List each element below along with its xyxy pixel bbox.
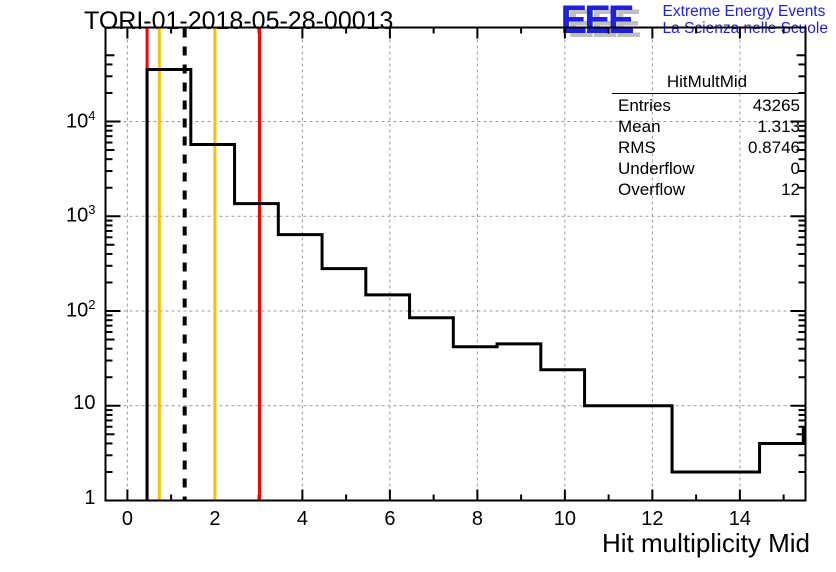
stats-row-key: Overflow: [618, 179, 685, 200]
stats-row: Entries43265: [612, 95, 802, 116]
stats-row-key: Mean: [618, 116, 661, 137]
stats-box-title: HitMultMid: [612, 72, 802, 94]
stats-row-key: RMS: [618, 137, 656, 158]
stats-row-key: Entries: [618, 95, 671, 116]
x-tick-label: 2: [185, 508, 245, 531]
stats-row: Overflow12: [612, 179, 802, 200]
marker-lines: [147, 29, 259, 500]
stats-row: RMS0.8746: [612, 137, 802, 158]
x-tick-label: 0: [97, 508, 157, 531]
x-tick-label: 6: [360, 508, 420, 531]
stats-box: HitMultMid Entries43265Mean1.313RMS0.874…: [612, 72, 802, 200]
stats-row-value: 0.8746: [748, 137, 800, 158]
stats-row-value: 1.313: [757, 116, 800, 137]
x-tick-label: 4: [272, 508, 332, 531]
stats-row-key: Underflow: [618, 158, 695, 179]
y-tick-label: 102: [66, 297, 95, 323]
stats-row-value: 43265: [753, 95, 800, 116]
y-tick-label: 103: [66, 202, 95, 228]
y-tick-label: 1: [84, 487, 95, 510]
y-tick-label: 104: [66, 108, 95, 134]
stats-row: Underflow0: [612, 158, 802, 179]
x-tick-label: 10: [535, 508, 595, 531]
y-tick-label: 10: [73, 392, 95, 415]
stats-row-value: 12: [781, 179, 800, 200]
x-tick-label: 8: [447, 508, 507, 531]
stats-row: Mean1.313: [612, 116, 802, 137]
stats-row-value: 0: [791, 158, 800, 179]
x-axis-title: Hit multiplicity Mid: [602, 528, 810, 559]
